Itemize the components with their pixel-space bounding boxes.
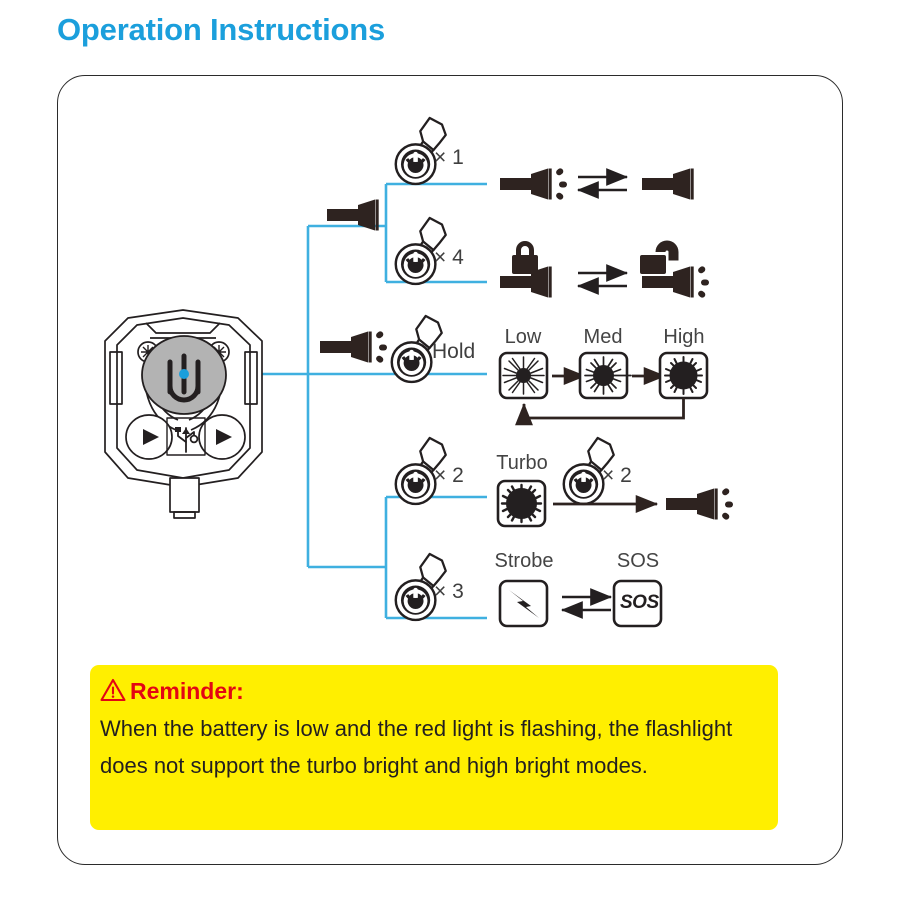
mode-label-med: Med (578, 326, 628, 349)
mode-label-strobe: Strobe (483, 550, 565, 573)
press-hold-label: Hold (432, 340, 475, 364)
page-title: Operation Instructions (57, 12, 385, 48)
press-count-label-x4: × 4 (434, 246, 464, 270)
mode-label-low: Low (498, 326, 548, 349)
press-count-label-x3: × 3 (434, 580, 464, 604)
press-count-label-x2-enter: × 2 (434, 464, 464, 488)
operation-instructions-page: Operation Instructions (0, 0, 900, 900)
mode-label-sos: SOS (608, 550, 668, 573)
mode-label-high: High (657, 326, 711, 349)
press-count-label-x1: × 1 (434, 146, 464, 170)
press-count-label-x2-exit: × 2 (602, 464, 632, 488)
reminder-body: When the battery is low and the red ligh… (100, 710, 740, 784)
mode-label-turbo: Turbo (484, 452, 560, 475)
reminder-heading: Reminder: (130, 678, 244, 705)
sos-label: SOS (620, 592, 659, 614)
warning-triangle-icon (100, 678, 126, 702)
